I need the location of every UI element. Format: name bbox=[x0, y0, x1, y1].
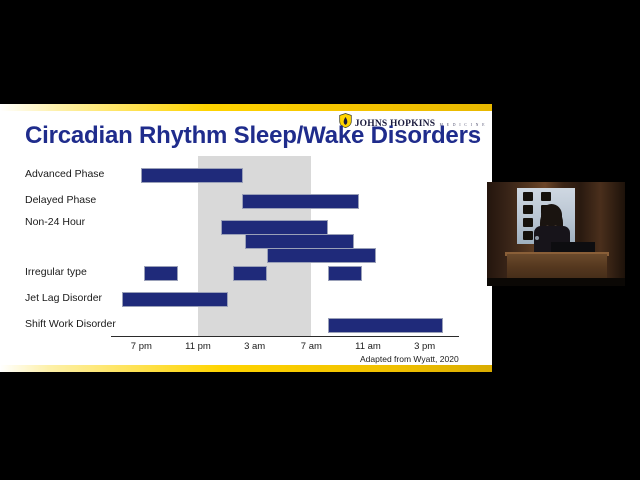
video-floor bbox=[487, 278, 625, 286]
speaker-video-inset[interactable]: JOHNS HOPKINS bbox=[487, 182, 625, 286]
x-axis-line bbox=[111, 336, 459, 337]
page-title: Circadian Rhythm Sleep/Wake Disorders bbox=[25, 122, 481, 150]
bar-non-24-hour-1 bbox=[245, 234, 354, 249]
bottom-accent-bar bbox=[0, 365, 492, 372]
bar-irregular-type-2 bbox=[328, 266, 362, 281]
bar-irregular-type-1 bbox=[233, 266, 267, 281]
window-panel bbox=[523, 218, 533, 227]
row-label-jet-lag-disorder: Jet Lag Disorder bbox=[25, 292, 102, 304]
bar-advanced-phase-0 bbox=[141, 168, 243, 183]
window-panel bbox=[541, 192, 551, 201]
bar-irregular-type-0 bbox=[144, 266, 178, 281]
screen: JOHNS HOPKINS M E D I C I N E Circadian … bbox=[0, 0, 640, 480]
speaker-hair bbox=[541, 204, 562, 226]
x-tick-2: 3 am bbox=[230, 341, 280, 352]
window-panel bbox=[523, 192, 533, 201]
row-label-irregular-type: Irregular type bbox=[25, 266, 87, 278]
top-accent-bar bbox=[0, 104, 492, 111]
row-label-advanced-phase: Advanced Phase bbox=[25, 168, 104, 180]
bar-non-24-hour-2 bbox=[267, 248, 376, 263]
row-label-shift-work-disorder: Shift Work Disorder bbox=[25, 318, 116, 330]
x-tick-4: 11 am bbox=[343, 341, 393, 352]
presentation-slide: JOHNS HOPKINS M E D I C I N E Circadian … bbox=[0, 104, 492, 372]
row-label-delayed-phase: Delayed Phase bbox=[25, 194, 96, 206]
window-panel bbox=[523, 205, 533, 214]
bar-non-24-hour-0 bbox=[221, 220, 329, 235]
x-tick-0: 7 pm bbox=[116, 341, 166, 352]
bar-jet-lag-disorder-0 bbox=[122, 292, 228, 307]
x-tick-1: 11 pm bbox=[173, 341, 223, 352]
gantt-chart: Advanced PhaseDelayed PhaseNon-24 HourIr… bbox=[0, 156, 492, 361]
bar-shift-work-disorder-0 bbox=[328, 318, 443, 333]
window-panel bbox=[523, 231, 533, 240]
chart-attribution: Adapted from Wyatt, 2020 bbox=[360, 354, 459, 364]
microphone-icon bbox=[535, 236, 539, 240]
bar-delayed-phase-0 bbox=[242, 194, 360, 209]
x-tick-5: 3 pm bbox=[400, 341, 450, 352]
x-tick-3: 7 am bbox=[286, 341, 336, 352]
row-label-non-24-hour: Non-24 Hour bbox=[25, 216, 85, 228]
